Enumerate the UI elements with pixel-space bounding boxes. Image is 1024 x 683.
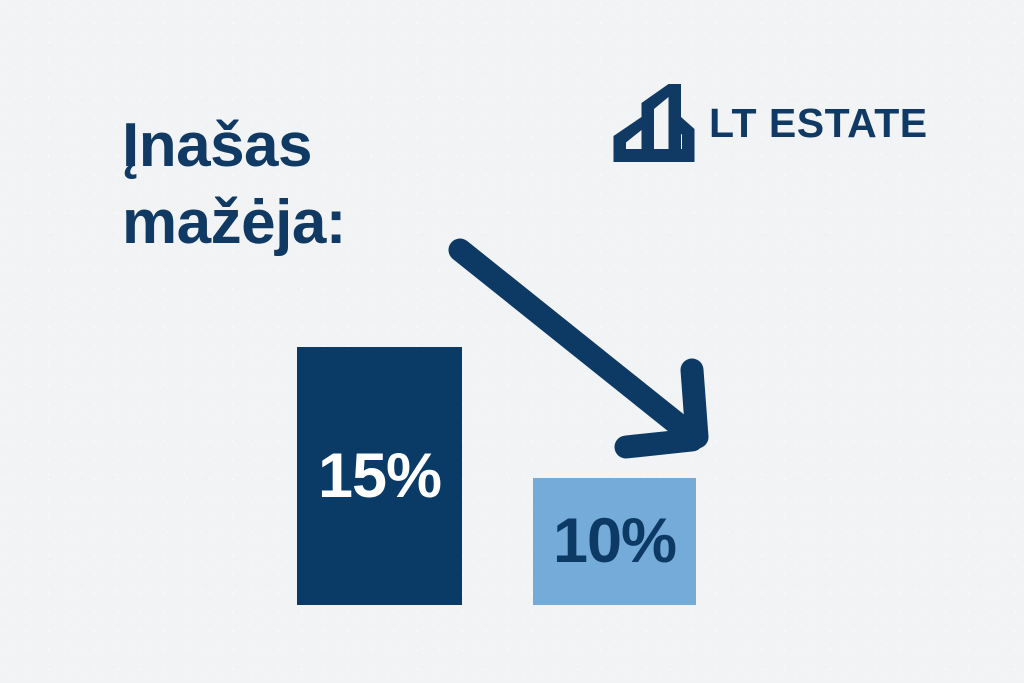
infographic-canvas: Įnašas mažėja: LT ESTATE (0, 0, 1024, 683)
bar-primary-value-label: 15% (318, 445, 441, 508)
bar-secondary: 10% (533, 478, 696, 605)
bar-primary: 15% (297, 347, 462, 605)
page-title: Įnašas mažėja: (122, 108, 552, 262)
logo-text: LT ESTATE (709, 103, 928, 144)
brand-logo: LT ESTATE (613, 84, 928, 162)
bar-secondary-value-label: 10% (553, 510, 676, 573)
building-icon (613, 84, 695, 162)
